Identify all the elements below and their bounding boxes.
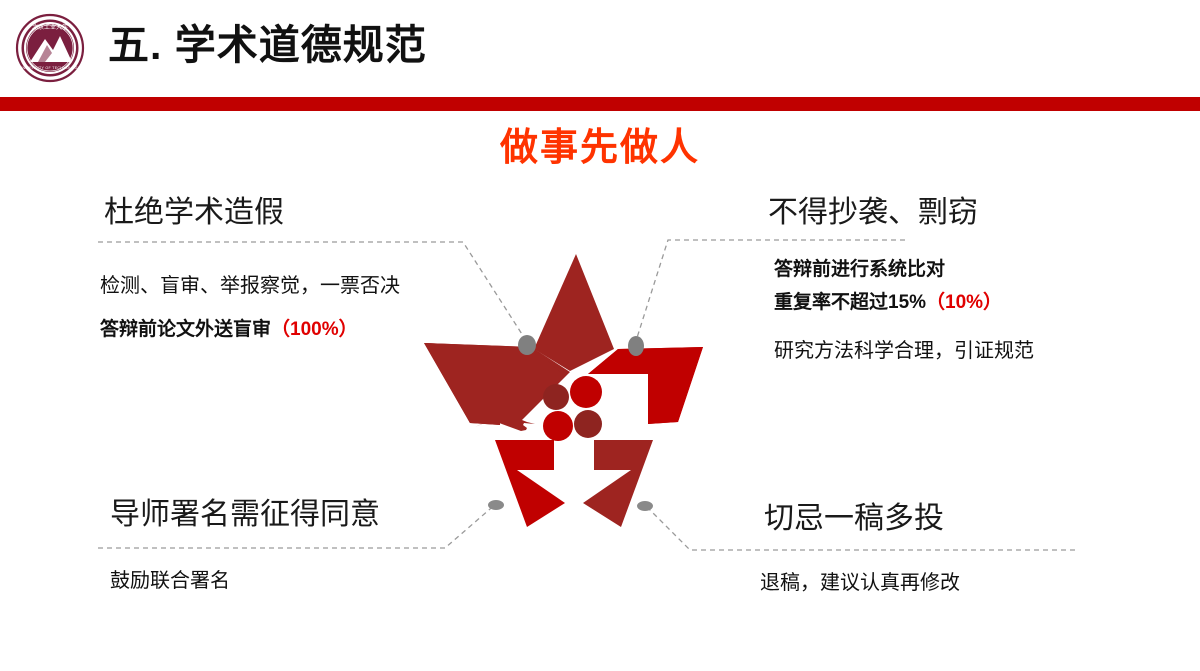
connector-dot-top-right [628, 336, 644, 356]
star-petals-clean [424, 343, 703, 527]
star-petal-right [588, 347, 703, 424]
tl-line2-main: 答辩前论文外送盲审 [100, 319, 271, 340]
quadrant-text-top-right-line2: 重复率不超过15%（10%） [774, 288, 1002, 318]
quadrant-heading-top-left: 杜绝学术造假 [104, 194, 284, 232]
quadrant-heading-bottom-left: 导师署名需征得同意 [110, 496, 380, 534]
university-seal-logo: 北京工业大学 UNIVERSITY OF TECHNOLOGY [14, 12, 86, 84]
quadrant-heading-bottom-right: 切忌一稿多投 [764, 500, 944, 538]
tr-line2-highlight: （10%） [926, 292, 1002, 313]
five-pointed-star [424, 254, 703, 527]
quadrant-text-top-right-line3: 研究方法科学合理，引证规范 [774, 333, 1034, 369]
star-petal-top [534, 254, 614, 371]
university-seal-logo-svg: 北京工业大学 UNIVERSITY OF TECHNOLOGY [14, 12, 86, 84]
connector-nodes [488, 335, 653, 511]
connector-dot-top-left [518, 335, 536, 355]
slide-header: 北京工业大学 UNIVERSITY OF TECHNOLOGY 五. 学术道德规… [0, 0, 1200, 97]
star-petal-right-2 [588, 347, 703, 424]
star-petal-left [424, 343, 562, 425]
quadrant-text-bottom-right-line1: 退稿，建议认真再修改 [760, 565, 960, 601]
tr-line2-main: 重复率不超过15% [774, 292, 926, 313]
center-dot-bottom-right [574, 410, 602, 438]
connector-dot-bottom-left [488, 500, 504, 510]
star-petal-upper-left [425, 343, 570, 431]
quadrant-text-top-left-line2: 答辩前论文外送盲审（100%） [100, 312, 358, 348]
center-dot-top-left [543, 384, 569, 410]
star-petal-bottom-right [583, 440, 653, 527]
quadrant-text-top-left-line1: 检测、盲审、举报察觉，一票否决 [100, 268, 400, 304]
quadrant-text-bottom-left-line1: 鼓励联合署名 [110, 563, 230, 599]
center-dot-bottom-left [543, 411, 573, 441]
header-accent-band [0, 97, 1200, 111]
headline-text: 做事先做人 [0, 124, 1200, 172]
slide-root: 北京工业大学 UNIVERSITY OF TECHNOLOGY 五. 学术道德规… [0, 0, 1200, 671]
connector-dot-bottom-right [637, 501, 653, 511]
tl-line2-highlight: （100%） [271, 319, 358, 340]
svg-text:UNIVERSITY OF TECHNOLOGY: UNIVERSITY OF TECHNOLOGY [20, 66, 81, 70]
center-dots [543, 376, 602, 441]
star-petal-bottom-left [495, 440, 565, 527]
page-title: 五. 学术道德规范 [108, 17, 427, 73]
center-dot-top-right [570, 376, 602, 408]
quadrant-heading-top-right: 不得抄袭、剽窃 [768, 194, 978, 232]
quadrant-text-top-right-line1: 答辩前进行系统比对 [774, 255, 945, 285]
svg-text:北京工业大学: 北京工业大学 [32, 23, 68, 31]
star-petal-left-2 [424, 343, 562, 425]
